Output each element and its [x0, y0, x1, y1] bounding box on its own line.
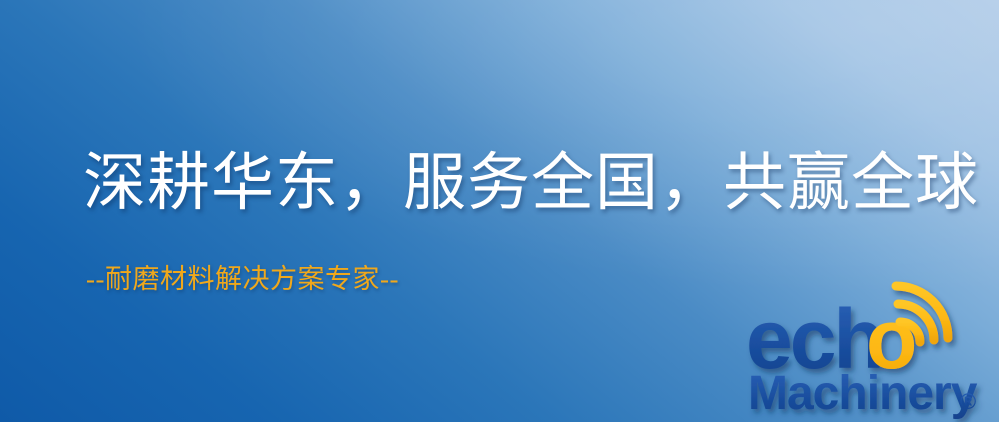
echo-machinery-logo: ech o Machinery ®: [744, 296, 999, 422]
registered-trademark-icon: ®: [960, 389, 976, 414]
logo-tagline: Machinery: [748, 367, 978, 420]
page-subtitle: --耐磨材料解决方案专家--: [86, 266, 399, 293]
hero-banner: 深耕华东，服务全国，共赢全球 --耐磨材料解决方案专家--: [0, 0, 999, 422]
page-title: 深耕华东，服务全国，共赢全球: [83, 152, 979, 215]
